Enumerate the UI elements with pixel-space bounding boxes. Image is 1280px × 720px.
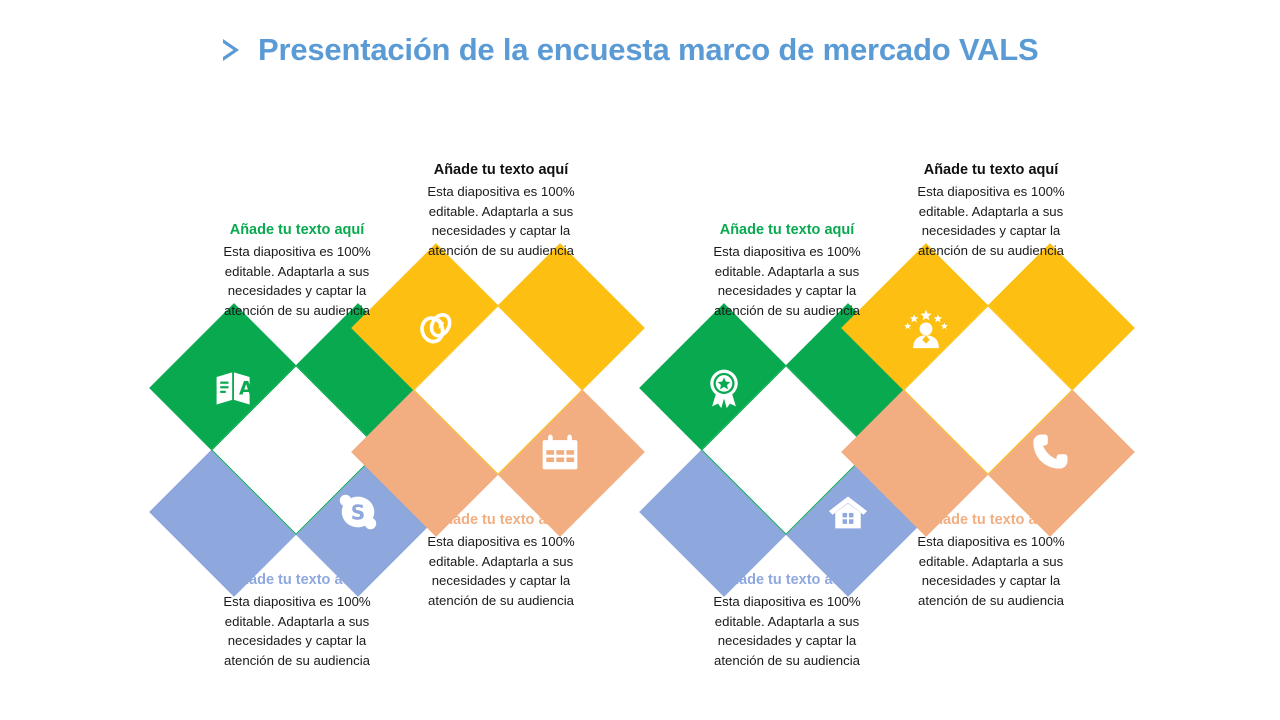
text-block-heading: Añade tu texto aquí [694,221,880,239]
text-block-heading: Añade tu texto aquí [694,571,880,589]
text-block-heading: Añade tu texto aquí [408,511,594,529]
page-title: Presentación de la encuesta marco de mer… [258,33,1038,67]
text-block-body: Esta diapositiva es 100% editable. Adapt… [898,532,1084,610]
svg-text:S: S [351,501,365,525]
text-block-left-peach: Añade tu texto aquí Esta diapositiva es … [408,511,594,610]
text-block-right-green: Añade tu texto aquí Esta diapositiva es … [694,221,880,320]
svg-text:A: A [239,378,254,399]
text-block-heading: Añade tu texto aquí [898,511,1084,529]
text-block-heading: Añade tu texto aquí [898,161,1084,179]
text-block-heading: Añade tu texto aquí [204,221,390,239]
text-block-right-blue: Añade tu texto aquí Esta diapositiva es … [694,571,880,670]
text-block-body: Esta diapositiva es 100% editable. Adapt… [694,242,880,320]
text-block-heading: Añade tu texto aquí [204,571,390,589]
text-block-left-black: Añade tu texto aquí Esta diapositiva es … [408,161,594,260]
text-block-body: Esta diapositiva es 100% editable. Adapt… [408,532,594,610]
slide-title-row: Presentación de la encuesta marco de mer… [220,22,1120,78]
diamond-cluster-left-yellow-peach [374,266,622,514]
arrow-bullet-icon [220,37,242,63]
text-block-body: Esta diapositiva es 100% editable. Adapt… [408,182,594,260]
text-block-left-blue: Añade tu texto aquí Esta diapositiva es … [204,571,390,670]
diamond-cluster-right-yellow-peach [864,266,1112,514]
text-block-heading: Añade tu texto aquí [408,161,594,179]
text-block-left-green: Añade tu texto aquí Esta diapositiva es … [204,221,390,320]
text-block-right-peach: Añade tu texto aquí Esta diapositiva es … [898,511,1084,610]
text-block-body: Esta diapositiva es 100% editable. Adapt… [204,242,390,320]
text-block-right-black: Añade tu texto aquí Esta diapositiva es … [898,161,1084,260]
text-block-body: Esta diapositiva es 100% editable. Adapt… [204,592,390,670]
text-block-body: Esta diapositiva es 100% editable. Adapt… [898,182,1084,260]
slide-canvas: Presentación de la encuesta marco de mer… [0,0,1280,720]
text-block-body: Esta diapositiva es 100% editable. Adapt… [694,592,880,670]
